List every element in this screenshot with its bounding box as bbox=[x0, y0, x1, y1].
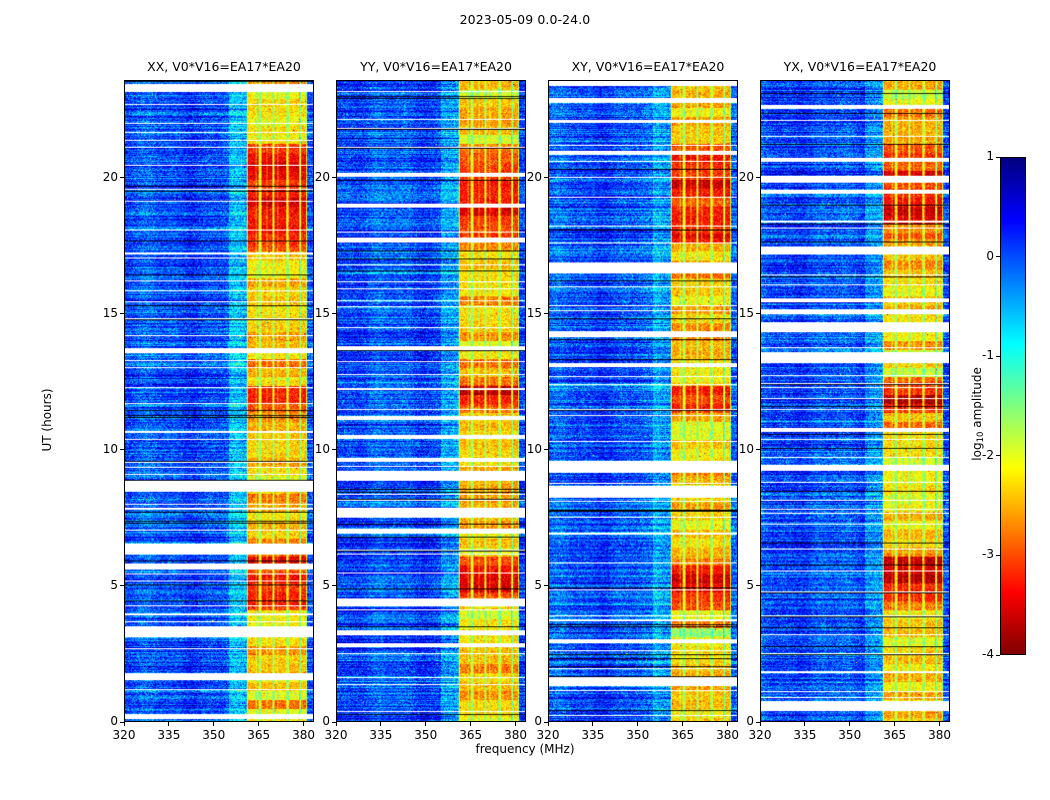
colorbar-tick-label--3: -3 bbox=[960, 547, 994, 561]
y-tick-label-20: 20 bbox=[720, 170, 754, 184]
y-tickmark bbox=[544, 722, 548, 723]
y-tick-label-15: 15 bbox=[84, 306, 118, 320]
x-tick-label-335: 335 bbox=[783, 728, 827, 742]
waterfall-image-xy bbox=[549, 81, 737, 721]
y-tick-label-15: 15 bbox=[720, 306, 754, 320]
y-tickmark bbox=[756, 722, 760, 723]
y-tick-label-15: 15 bbox=[508, 306, 542, 320]
y-axis-label: UT (hours) bbox=[40, 360, 54, 480]
y-tickmark bbox=[756, 585, 760, 586]
y-tickmark bbox=[756, 177, 760, 178]
x-tick-label-380: 380 bbox=[918, 728, 962, 742]
colorbar-tickmark bbox=[996, 655, 1000, 656]
waterfall-image-yx bbox=[761, 81, 949, 721]
figure-canvas: 2023-05-09 0.0-24.0 XX, V0*V16=EA17*EA20… bbox=[0, 0, 1050, 800]
x-tick-label-365: 365 bbox=[873, 728, 917, 742]
waterfall-panel-yy[interactable] bbox=[336, 80, 526, 722]
y-tick-label-20: 20 bbox=[84, 170, 118, 184]
y-tickmark bbox=[332, 722, 336, 723]
y-tickmark bbox=[332, 313, 336, 314]
x-tickmark bbox=[124, 722, 125, 726]
waterfall-image-yy bbox=[337, 81, 525, 721]
y-tickmark bbox=[120, 313, 124, 314]
x-tickmark bbox=[592, 722, 593, 726]
x-tick-label-335: 335 bbox=[571, 728, 615, 742]
x-tick-label-365: 365 bbox=[237, 728, 281, 742]
y-tick-label-20: 20 bbox=[296, 170, 330, 184]
y-tick-label-0: 0 bbox=[296, 714, 330, 728]
x-tickmark bbox=[470, 722, 471, 726]
colorbar-tickmark bbox=[996, 256, 1000, 257]
y-tickmark bbox=[332, 177, 336, 178]
y-tick-label-5: 5 bbox=[720, 578, 754, 592]
y-tickmark bbox=[756, 449, 760, 450]
colorbar-tick-label--4: -4 bbox=[960, 647, 994, 661]
x-tick-label-350: 350 bbox=[404, 728, 448, 742]
panel-title-yx: YX, V0*V16=EA17*EA20 bbox=[730, 59, 990, 77]
y-tickmark bbox=[120, 449, 124, 450]
x-axis-label: frequency (MHz) bbox=[0, 742, 1050, 756]
y-tickmark bbox=[332, 449, 336, 450]
x-tick-label-350: 350 bbox=[192, 728, 236, 742]
y-tick-label-20: 20 bbox=[508, 170, 542, 184]
y-tick-label-15: 15 bbox=[296, 306, 330, 320]
x-tickmark bbox=[682, 722, 683, 726]
colorbar-tickmark bbox=[996, 157, 1000, 158]
y-tick-label-5: 5 bbox=[296, 578, 330, 592]
colorbar-tickmark bbox=[996, 555, 1000, 556]
y-tickmark bbox=[332, 585, 336, 586]
x-tickmark bbox=[849, 722, 850, 726]
x-tickmark bbox=[548, 722, 549, 726]
y-tick-label-0: 0 bbox=[720, 714, 754, 728]
colorbar-label-suffix: amplitude bbox=[970, 367, 984, 431]
waterfall-panel-xy[interactable] bbox=[548, 80, 738, 722]
colorbar-label-subscript: 10 bbox=[976, 432, 986, 443]
y-tickmark bbox=[544, 313, 548, 314]
y-tick-label-10: 10 bbox=[296, 442, 330, 456]
colorbar-tick-label--2: -2 bbox=[960, 448, 994, 462]
x-tick-label-365: 365 bbox=[449, 728, 493, 742]
x-tickmark bbox=[336, 722, 337, 726]
waterfall-image-xx bbox=[125, 81, 313, 721]
x-tick-label-350: 350 bbox=[828, 728, 872, 742]
y-tick-label-0: 0 bbox=[508, 714, 542, 728]
colorbar-tickmark bbox=[996, 356, 1000, 357]
y-tickmark bbox=[544, 585, 548, 586]
y-tickmark bbox=[120, 585, 124, 586]
x-tickmark bbox=[939, 722, 940, 726]
y-tickmark bbox=[544, 449, 548, 450]
x-tick-label-320: 320 bbox=[314, 728, 358, 742]
x-tickmark bbox=[380, 722, 381, 726]
x-tick-label-335: 335 bbox=[147, 728, 191, 742]
y-tickmark bbox=[756, 313, 760, 314]
y-tickmark bbox=[120, 177, 124, 178]
colorbar-tick-label-0: 0 bbox=[960, 249, 994, 263]
y-tick-label-10: 10 bbox=[508, 442, 542, 456]
colorbar-tick-label--1: -1 bbox=[960, 348, 994, 362]
x-tickmark bbox=[637, 722, 638, 726]
y-tick-label-10: 10 bbox=[84, 442, 118, 456]
figure-suptitle: 2023-05-09 0.0-24.0 bbox=[0, 12, 1050, 27]
y-tick-label-5: 5 bbox=[508, 578, 542, 592]
y-tickmark bbox=[544, 177, 548, 178]
colorbar-tickmark bbox=[996, 455, 1000, 456]
x-tick-label-335: 335 bbox=[359, 728, 403, 742]
x-tick-label-320: 320 bbox=[738, 728, 782, 742]
x-tickmark bbox=[804, 722, 805, 726]
colorbar[interactable] bbox=[1000, 157, 1026, 655]
colorbar-tick-label-1: 1 bbox=[960, 149, 994, 163]
x-tickmark bbox=[258, 722, 259, 726]
y-tick-label-10: 10 bbox=[720, 442, 754, 456]
y-tick-label-0: 0 bbox=[84, 714, 118, 728]
x-tick-label-365: 365 bbox=[661, 728, 705, 742]
x-tick-label-320: 320 bbox=[526, 728, 570, 742]
x-tick-label-320: 320 bbox=[102, 728, 146, 742]
x-tickmark bbox=[760, 722, 761, 726]
colorbar-gradient bbox=[1001, 158, 1025, 654]
waterfall-panel-yx[interactable] bbox=[760, 80, 950, 722]
x-tick-label-350: 350 bbox=[616, 728, 660, 742]
waterfall-panel-xx[interactable] bbox=[124, 80, 314, 722]
x-tickmark bbox=[894, 722, 895, 726]
y-tickmark bbox=[120, 722, 124, 723]
x-tickmark bbox=[425, 722, 426, 726]
colorbar-label: log10 amplitude bbox=[970, 344, 986, 484]
x-tickmark bbox=[213, 722, 214, 726]
x-tickmark bbox=[168, 722, 169, 726]
y-tick-label-5: 5 bbox=[84, 578, 118, 592]
